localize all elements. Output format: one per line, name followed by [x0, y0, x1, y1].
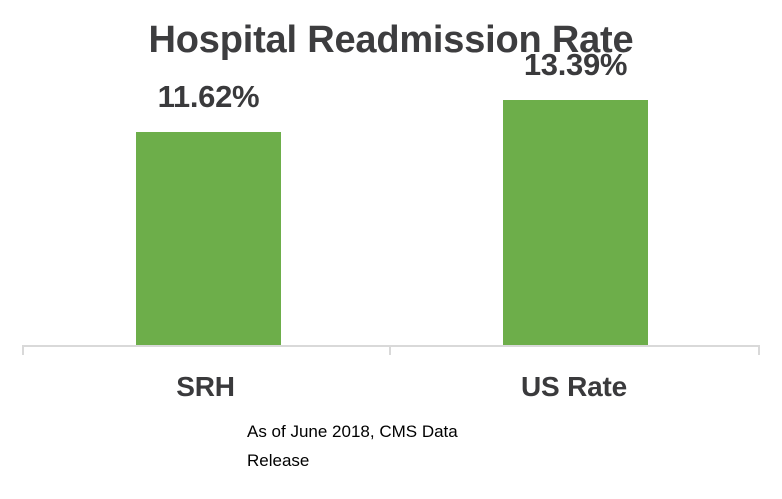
bar-srh[interactable]	[136, 132, 281, 345]
chart-footnote-line-1: As of June 2018, CMS Data	[247, 417, 547, 446]
value-label-srh: 11.62%	[136, 79, 281, 115]
category-label-srh: SRH	[22, 371, 389, 403]
value-label-us-rate: 13.39%	[503, 47, 648, 83]
axis-tick-start	[22, 345, 24, 355]
category-axis-line	[22, 345, 760, 347]
chart-canvas: Hospital Readmission Rate 11.62% 13.39% …	[0, 0, 782, 499]
chart-footnote-line-2: Release	[247, 446, 547, 475]
axis-tick-end	[758, 345, 760, 355]
category-label-us-rate: US Rate	[390, 371, 758, 403]
bar-us-rate[interactable]	[503, 100, 648, 345]
axis-tick-middle	[389, 345, 391, 355]
chart-footnote: As of June 2018, CMS Data Release	[247, 417, 547, 475]
